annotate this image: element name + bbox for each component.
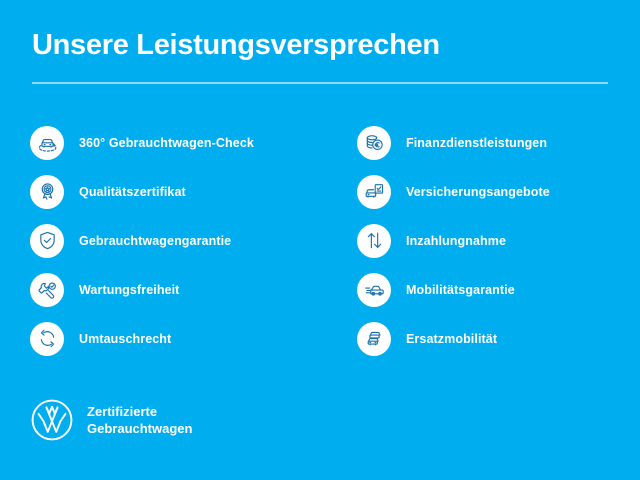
benefit-item-warranty: Gebrauchtwagengarantie bbox=[30, 216, 330, 265]
benefit-item-financial-services: Finanzdienstleistungen bbox=[357, 118, 640, 167]
benefit-label: Mobilitätsgarantie bbox=[406, 283, 515, 297]
benefit-item-quality-certificate: Qualitätszertifikat bbox=[30, 167, 330, 216]
car-document-icon bbox=[357, 175, 391, 209]
brand-line-2: Gebrauchtwagen bbox=[87, 420, 192, 437]
benefit-label: Finanzdienstleistungen bbox=[406, 136, 547, 150]
benefits-poster: Unsere Leistungsversprechen 360° Gebrauc bbox=[0, 0, 640, 480]
exchange-arrows-icon bbox=[30, 322, 64, 356]
volkswagen-logo bbox=[30, 398, 74, 442]
brand-lockup: Zertifizierte Gebrauchtwagen bbox=[30, 398, 192, 442]
coins-euro-icon bbox=[357, 126, 391, 160]
brand-text: Zertifizierte Gebrauchtwagen bbox=[87, 403, 192, 437]
wrench-check-icon bbox=[30, 273, 64, 307]
benefit-label: 360° Gebrauchtwagen-Check bbox=[79, 136, 254, 150]
benefit-label: Qualitätszertifikat bbox=[79, 185, 186, 199]
benefits-left-column: 360° Gebrauchtwagen-Check Qualitätszerti… bbox=[30, 118, 330, 363]
header: Unsere Leistungsversprechen bbox=[32, 28, 608, 84]
two-cars-icon bbox=[357, 322, 391, 356]
benefit-label: Gebrauchtwagengarantie bbox=[79, 234, 231, 248]
benefit-item-mobility-guarantee: Mobilitätsgarantie bbox=[357, 265, 640, 314]
award-rosette-icon bbox=[30, 175, 64, 209]
shield-check-icon bbox=[30, 224, 64, 258]
up-down-arrows-icon bbox=[357, 224, 391, 258]
benefit-label: Umtauschrecht bbox=[79, 332, 171, 346]
benefit-item-trade-in: Inzahlungnahme bbox=[357, 216, 640, 265]
car-motion-icon bbox=[357, 273, 391, 307]
benefit-item-360-check: 360° Gebrauchtwagen-Check bbox=[30, 118, 330, 167]
benefit-label: Inzahlungnahme bbox=[406, 234, 506, 248]
title-divider bbox=[32, 82, 608, 84]
car-360-check-icon bbox=[30, 126, 64, 160]
brand-line-1: Zertifizierte bbox=[87, 403, 192, 420]
benefit-item-insurance-offers: Versicherungsangebote bbox=[357, 167, 640, 216]
benefit-label: Wartungsfreiheit bbox=[79, 283, 179, 297]
benefit-item-exchange-right: Umtauschrecht bbox=[30, 314, 330, 363]
benefits-right-column: Finanzdienstleistungen Versicherungsange… bbox=[357, 118, 640, 363]
benefit-label: Versicherungsangebote bbox=[406, 185, 550, 199]
benefit-item-replacement-mobility: Ersatzmobilität bbox=[357, 314, 640, 363]
benefits-section: 360° Gebrauchtwagen-Check Qualitätszerti… bbox=[0, 118, 640, 363]
benefit-label: Ersatzmobilität bbox=[406, 332, 497, 346]
benefit-item-maintenance-free: Wartungsfreiheit bbox=[30, 265, 330, 314]
page-title: Unsere Leistungsversprechen bbox=[32, 28, 608, 62]
